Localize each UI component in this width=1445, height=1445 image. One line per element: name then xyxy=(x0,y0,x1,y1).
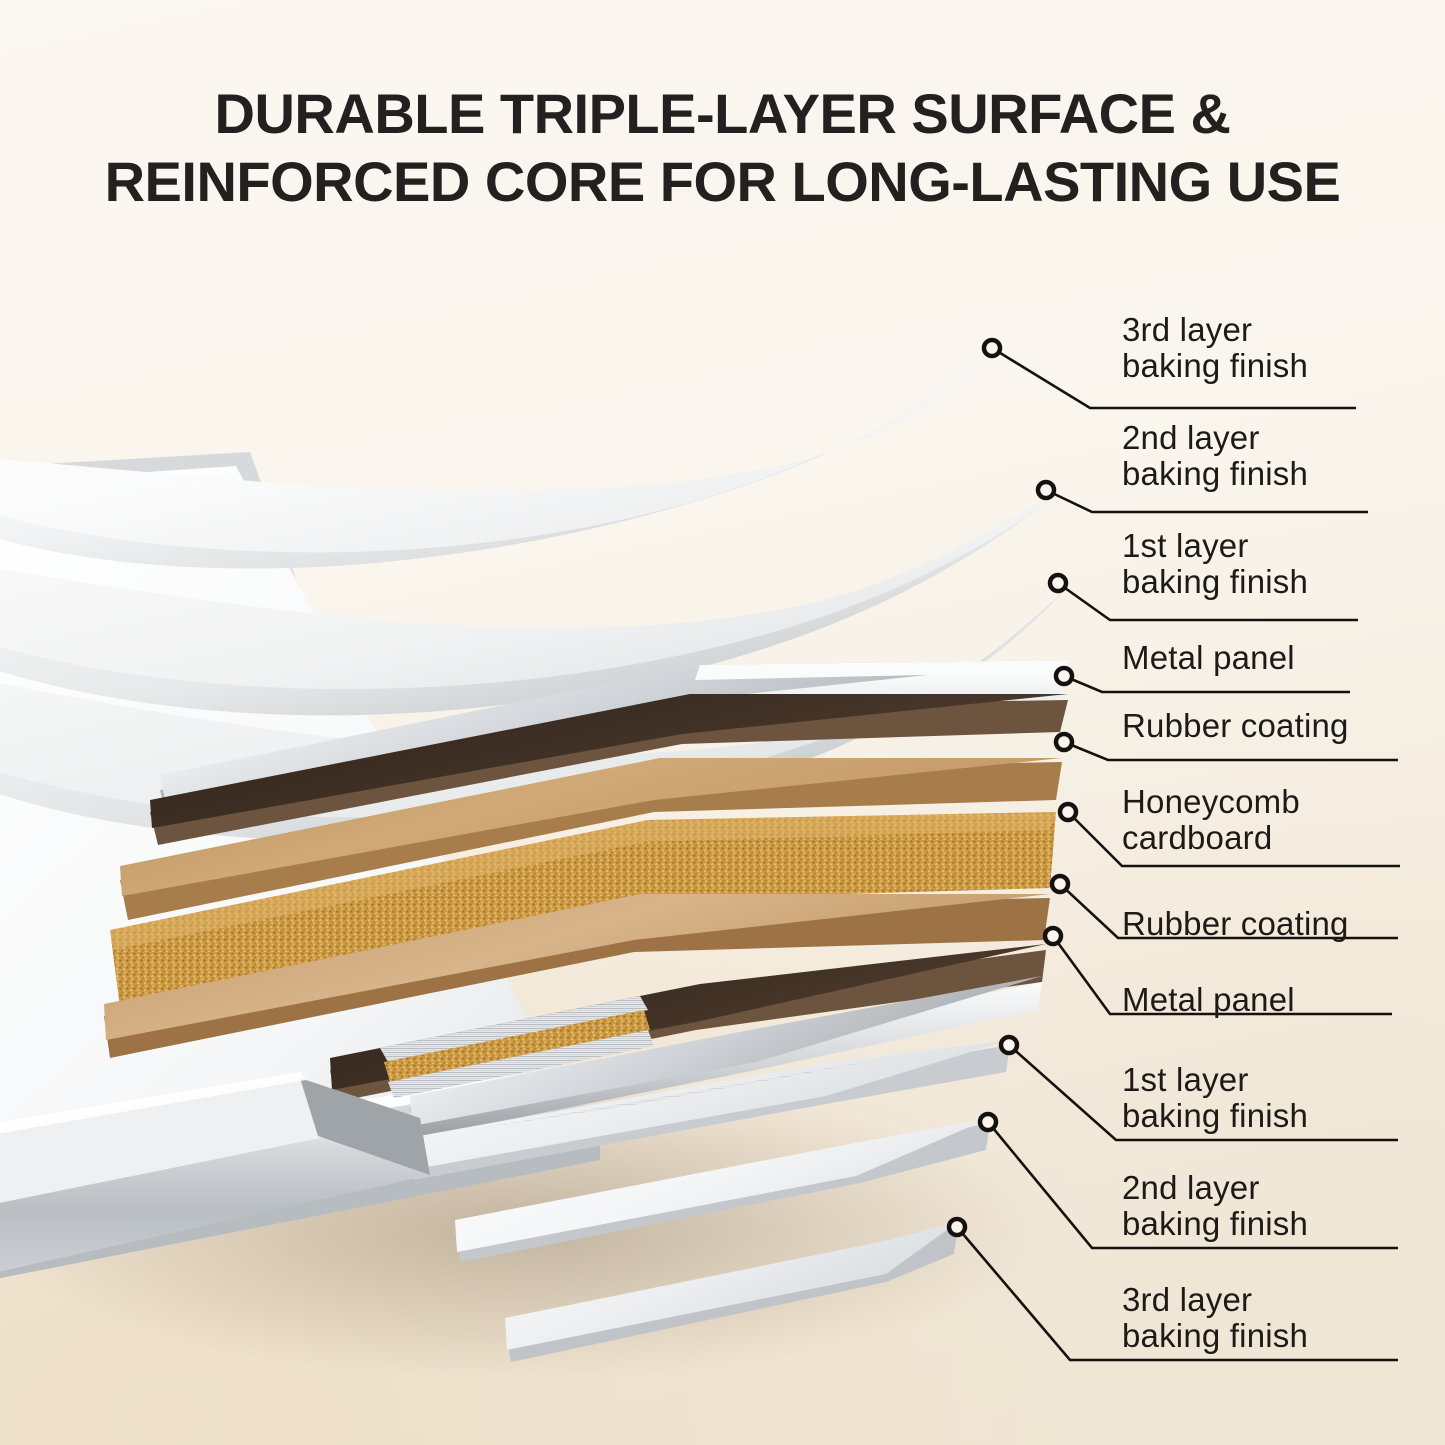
label-top-2nd-layer: 2nd layer baking finish xyxy=(1122,420,1308,493)
leader-top-metal-panel xyxy=(1064,676,1350,692)
label-top-1st-layer: 1st layer baking finish xyxy=(1122,528,1308,601)
label-bottom-rubber-coating: Rubber coating xyxy=(1122,906,1349,943)
label-top-rubber-coating: Rubber coating xyxy=(1122,708,1349,745)
anchor-dot-bottom-3rd-layer xyxy=(949,1219,965,1235)
anchor-dot-top-2nd-layer xyxy=(1038,482,1054,498)
label-bottom-metal-panel: Metal panel xyxy=(1122,982,1295,1019)
anchor-dot-bottom-rubber-coating xyxy=(1052,876,1068,892)
label-bottom-2nd-layer: 2nd layer baking finish xyxy=(1122,1170,1308,1243)
anchor-dot-top-metal-panel xyxy=(1056,668,1072,684)
anchor-dot-honeycomb-cardboard xyxy=(1060,804,1076,820)
label-top-metal-panel: Metal panel xyxy=(1122,640,1295,677)
anchor-dot-bottom-metal-panel xyxy=(1045,928,1061,944)
anchor-dot-top-1st-layer xyxy=(1050,575,1066,591)
label-bottom-1st-layer: 1st layer baking finish xyxy=(1122,1062,1308,1135)
label-honeycomb-cardboard: Honeycomb cardboard xyxy=(1122,784,1300,857)
anchor-dot-top-rubber-coating xyxy=(1056,734,1072,750)
anchor-dot-bottom-2nd-layer xyxy=(980,1114,996,1130)
leader-top-2nd-layer xyxy=(1046,490,1368,512)
anchor-dot-top-3rd-layer xyxy=(984,340,1000,356)
infographic-root: DURABLE TRIPLE-LAYER SURFACE & REINFORCE… xyxy=(0,0,1445,1445)
label-bottom-3rd-layer: 3rd layer baking finish xyxy=(1122,1282,1308,1355)
label-top-3rd-layer: 3rd layer baking finish xyxy=(1122,312,1308,385)
anchor-dot-bottom-1st-layer xyxy=(1001,1037,1017,1053)
